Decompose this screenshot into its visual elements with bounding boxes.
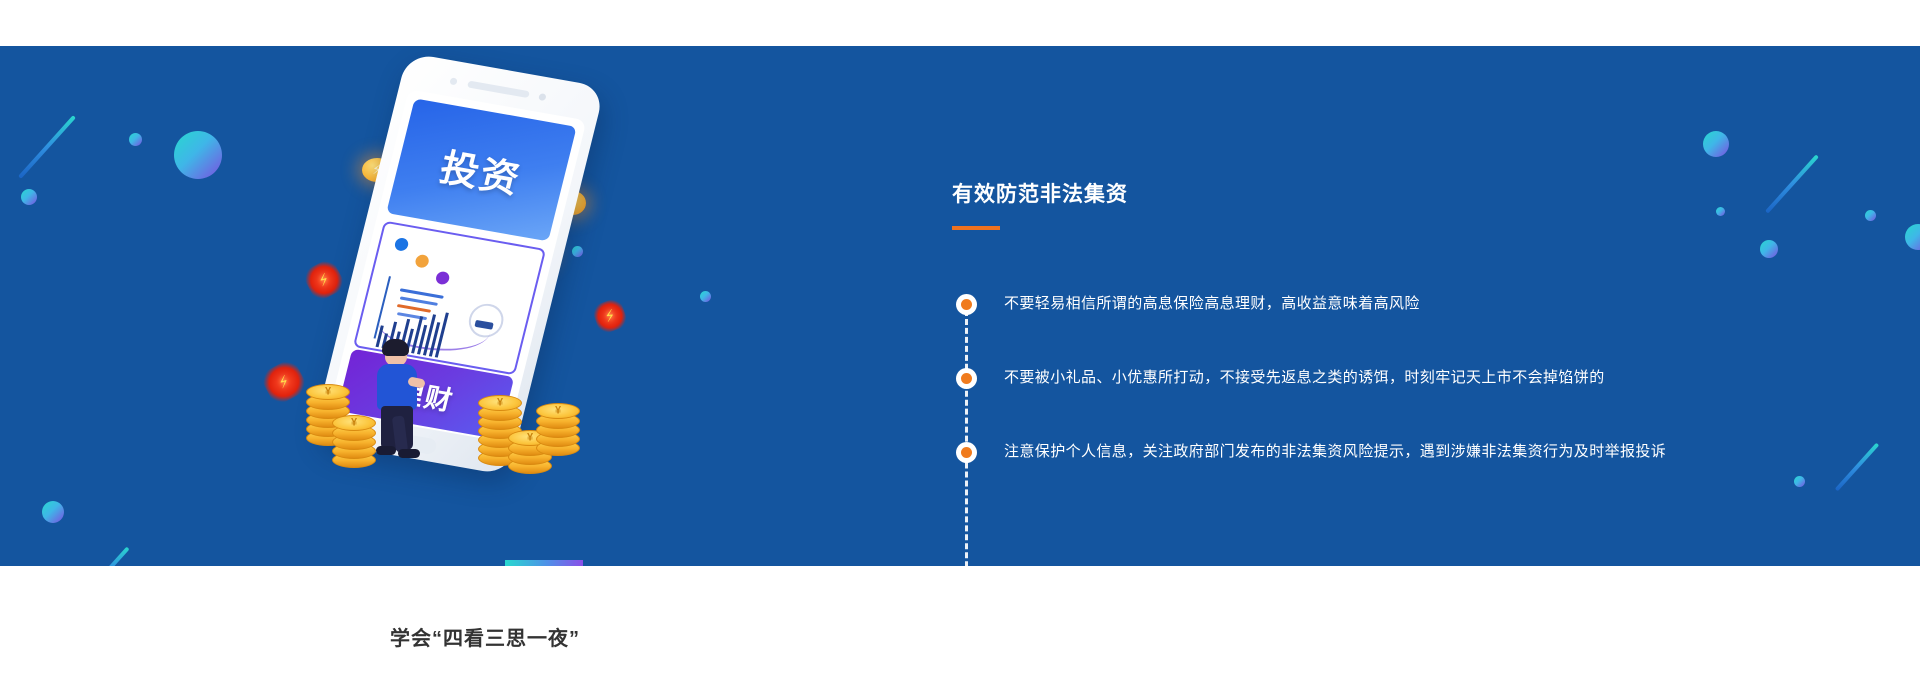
lightning-bolt-icon: ⚡	[259, 357, 309, 407]
deco-circle-icon	[42, 501, 64, 523]
tips-timeline: 不要轻易相信所谓的高息保险高息理财，高收益意味着高风险 不要被小礼品、小优惠所打…	[952, 281, 1852, 503]
person-hair	[382, 339, 409, 356]
lightning-bolt-icon: ⚡	[301, 257, 347, 303]
list-item: 不要被小礼品、小优惠所打动，不接受先返息之类的诱饵，时刻牢记天上市不会掉馅饼的	[952, 355, 1852, 429]
page-root: ⚡ ⚡ ¥ ¥ ⚡ ⚡ ⚡ 投资	[0, 0, 1920, 674]
coin-face-icon	[536, 403, 580, 419]
bottom-section: 学会“四看三思一夜”	[0, 566, 1920, 674]
chart-dot-icon	[435, 271, 451, 286]
page-title: 有效防范非法集资	[952, 178, 1128, 208]
deco-circle-icon	[1905, 224, 1920, 250]
deco-circle-icon	[1865, 210, 1876, 221]
deco-circle-icon	[21, 189, 37, 205]
phone-illustration: ⚡ ⚡ ¥ ¥ ⚡ ⚡ ⚡ 投资	[300, 46, 760, 566]
person-torso	[377, 364, 417, 410]
timeline-bullet-icon	[956, 442, 977, 463]
invest-banner-label: 投资	[435, 136, 527, 203]
hero-banner: ⚡ ⚡ ¥ ¥ ⚡ ⚡ ⚡ 投资	[0, 46, 1920, 566]
coin-stack	[332, 396, 380, 476]
list-item: 注意保护个人信息，关注政府部门发布的非法集资风险提示，遇到涉嫌非法集资行为及时举…	[952, 429, 1852, 503]
person-figure	[372, 342, 428, 458]
invest-banner-card: 投资	[386, 98, 576, 241]
tip-text: 不要被小礼品、小优惠所打动，不接受先返息之类的诱饵，时刻牢记天上市不会掉馅饼的	[1004, 366, 1605, 390]
tip-text: 注意保护个人信息，关注政府部门发布的非法集资风险提示，遇到涉嫌非法集资行为及时举…	[1004, 440, 1666, 464]
timeline-bullet-icon	[956, 294, 977, 315]
person-shoe	[398, 449, 420, 458]
list-item: 不要轻易相信所谓的高息保险高息理财，高收益意味着高风险	[952, 281, 1852, 355]
deco-circle-icon	[572, 246, 583, 257]
deco-circle-icon	[174, 131, 222, 179]
coin-stack	[536, 376, 584, 466]
timeline-bullet-icon	[956, 368, 977, 389]
section-title: 学会“四看三思一夜”	[390, 622, 580, 651]
deco-circle-icon	[129, 133, 142, 146]
chart-dot-icon	[394, 237, 410, 252]
comet-streak-icon	[18, 115, 76, 179]
comet-streak-icon	[90, 547, 129, 566]
lightning-bolt-icon: ⚡	[591, 297, 629, 335]
tip-text: 不要轻易相信所谓的高息保险高息理财，高收益意味着高风险	[1004, 292, 1420, 316]
hero-content: 有效防范非法集资 不要轻易相信所谓的高息保险高息理财，高收益意味着高风险 不要被…	[952, 46, 1852, 566]
title-underline	[952, 226, 1000, 230]
chart-dot-icon	[414, 254, 430, 269]
coin-face-icon	[332, 415, 376, 431]
